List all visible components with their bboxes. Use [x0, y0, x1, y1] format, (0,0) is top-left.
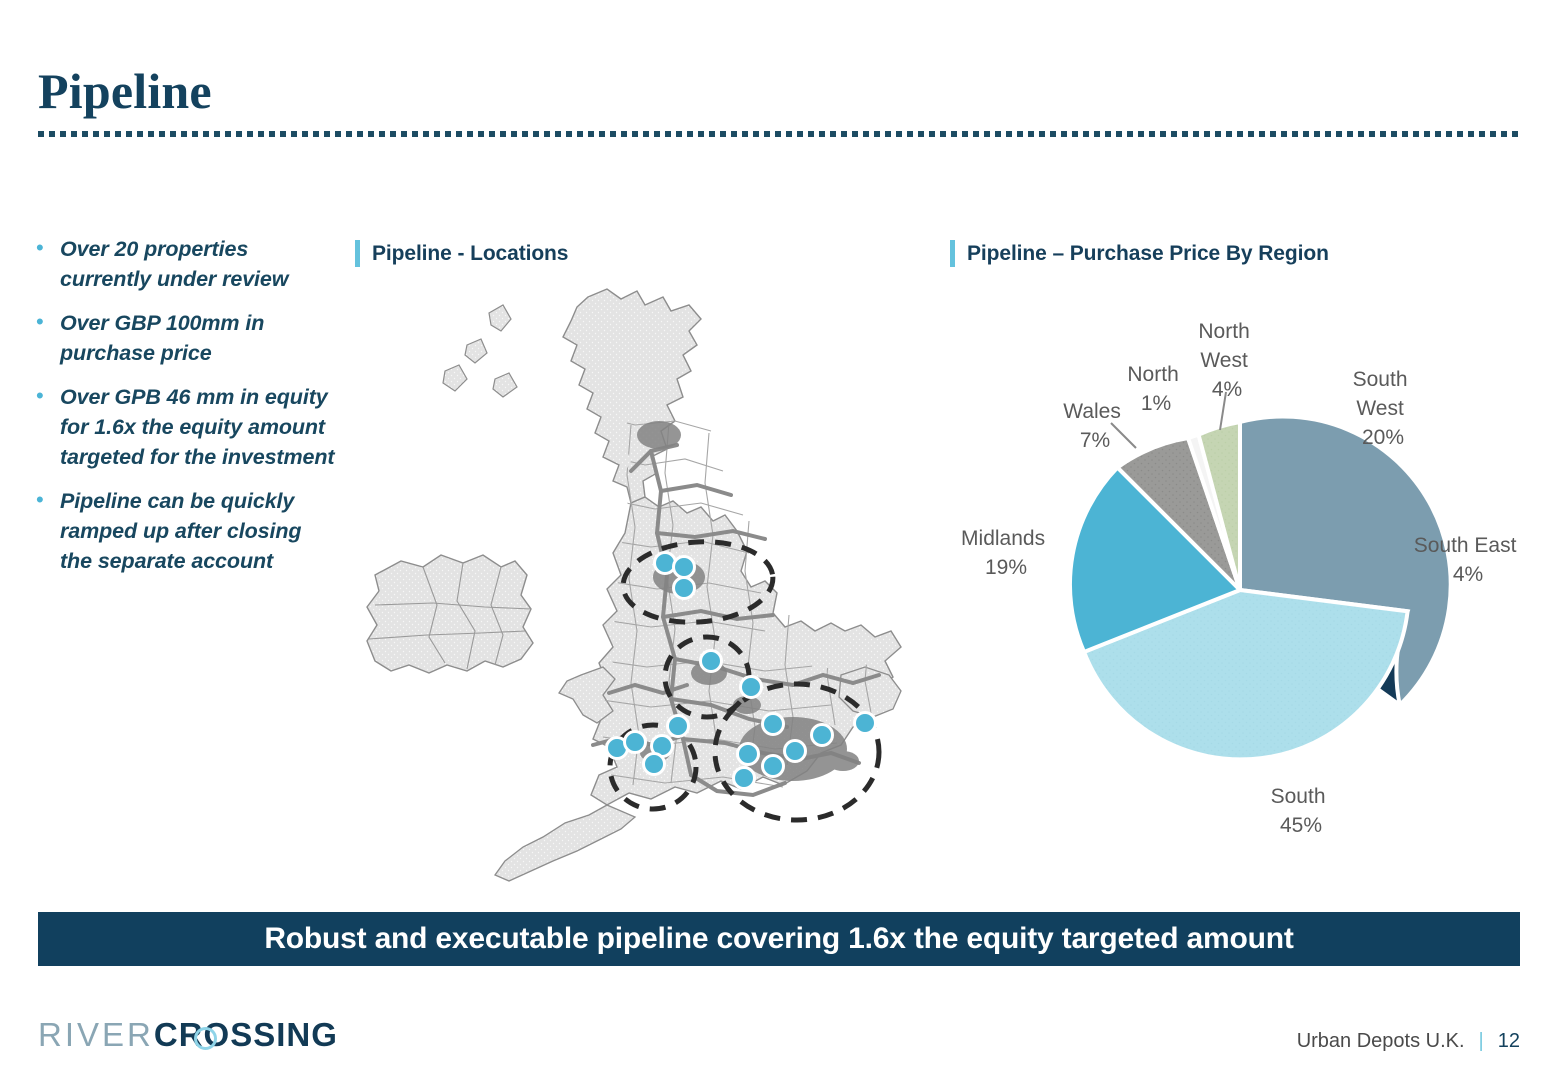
map-panel-header: Pipeline - Locations — [355, 240, 568, 267]
map-region-northern-ireland — [367, 555, 533, 673]
footer-document-name: Urban Depots U.K. — [1297, 1030, 1465, 1053]
logo-word-crossing: CROSSING — [154, 1016, 338, 1054]
accent-bar-icon — [355, 240, 360, 267]
page-title: Pipeline — [38, 62, 212, 120]
map-location-dot[interactable] — [785, 741, 806, 762]
map-location-dot[interactable] — [625, 732, 646, 753]
map-location-dot[interactable] — [674, 557, 695, 578]
bullet-marker-icon: • — [36, 234, 60, 261]
pie-label-south: South 45% — [1271, 785, 1332, 837]
uk-locations-map — [345, 275, 945, 905]
map-location-dot[interactable] — [763, 714, 784, 735]
map-location-dot[interactable] — [855, 713, 876, 734]
title-divider — [38, 131, 1520, 137]
company-logo: RIVER CROSSING — [38, 1016, 338, 1054]
map-region-cornwall — [495, 805, 635, 881]
map-location-dot[interactable] — [734, 768, 755, 789]
page-number: 12 — [1498, 1030, 1520, 1053]
map-location-dot[interactable] — [655, 553, 676, 574]
list-item: • Over GBP 100mm in purchase price — [36, 308, 336, 368]
pie-panel-header: Pipeline – Purchase Price By Region — [950, 240, 1329, 267]
footer-separator: | — [1479, 1030, 1484, 1053]
map-location-dot[interactable] — [668, 716, 689, 737]
list-item: • Over GPB 46 mm in equity for 1.6x the … — [36, 382, 336, 472]
slide-root: Pipeline • Over 20 properties currently … — [0, 0, 1558, 1080]
bullet-list: • Over 20 properties currently under rev… — [36, 234, 336, 590]
accent-bar-icon — [950, 240, 955, 267]
list-item: • Pipeline can be quickly ramped up afte… — [36, 486, 336, 576]
footer-meta: Urban Depots U.K. | 12 — [1297, 1030, 1520, 1053]
list-item: • Over 20 properties currently under rev… — [36, 234, 336, 294]
map-location-dot[interactable] — [738, 744, 759, 765]
pie-label-south-east: South East 4% — [1414, 534, 1523, 586]
pie-label-wales: Wales 7% — [1063, 400, 1126, 452]
map-panel-title: Pipeline - Locations — [372, 242, 568, 266]
map-location-dot[interactable] — [812, 725, 833, 746]
bullet-text: Over 20 properties currently under revie… — [60, 234, 336, 294]
summary-banner: Robust and executable pipeline covering … — [38, 912, 1520, 966]
map-island-hebrides — [443, 305, 517, 397]
pie-panel-title: Pipeline – Purchase Price By Region — [967, 242, 1329, 266]
logo-ring-icon — [194, 1027, 217, 1050]
map-location-dot[interactable] — [674, 578, 695, 599]
pie-label-north: North 1% — [1127, 363, 1184, 415]
map-location-dot[interactable] — [701, 651, 722, 672]
logo-word-river: RIVER — [38, 1016, 154, 1054]
logo-crossing-text: CROSSING — [154, 1016, 338, 1053]
bullet-marker-icon: • — [36, 308, 60, 335]
bullet-marker-icon: • — [36, 382, 60, 409]
bullet-text: Over GBP 100mm in purchase price — [60, 308, 336, 368]
map-location-dot[interactable] — [644, 754, 665, 775]
bullet-text: Pipeline can be quickly ramped up after … — [60, 486, 336, 576]
pie-label-midlands: Midlands 19% — [961, 527, 1051, 579]
map-location-dot[interactable] — [741, 677, 762, 698]
pie-label-south-west: South West 20% — [1353, 368, 1414, 449]
bullet-marker-icon: • — [36, 486, 60, 513]
pie-label-north-west: North West 4% — [1198, 320, 1255, 401]
map-location-dot[interactable] — [763, 756, 784, 777]
map-svg — [345, 275, 945, 905]
bullet-text: Over GPB 46 mm in equity for 1.6x the eq… — [60, 382, 336, 472]
pie-labels: South West 20% South East 4% South 45% M… — [940, 290, 1540, 890]
banner-text: Robust and executable pipeline covering … — [264, 922, 1293, 956]
purchase-price-pie-chart: South West 20% South East 4% South 45% M… — [940, 290, 1540, 890]
